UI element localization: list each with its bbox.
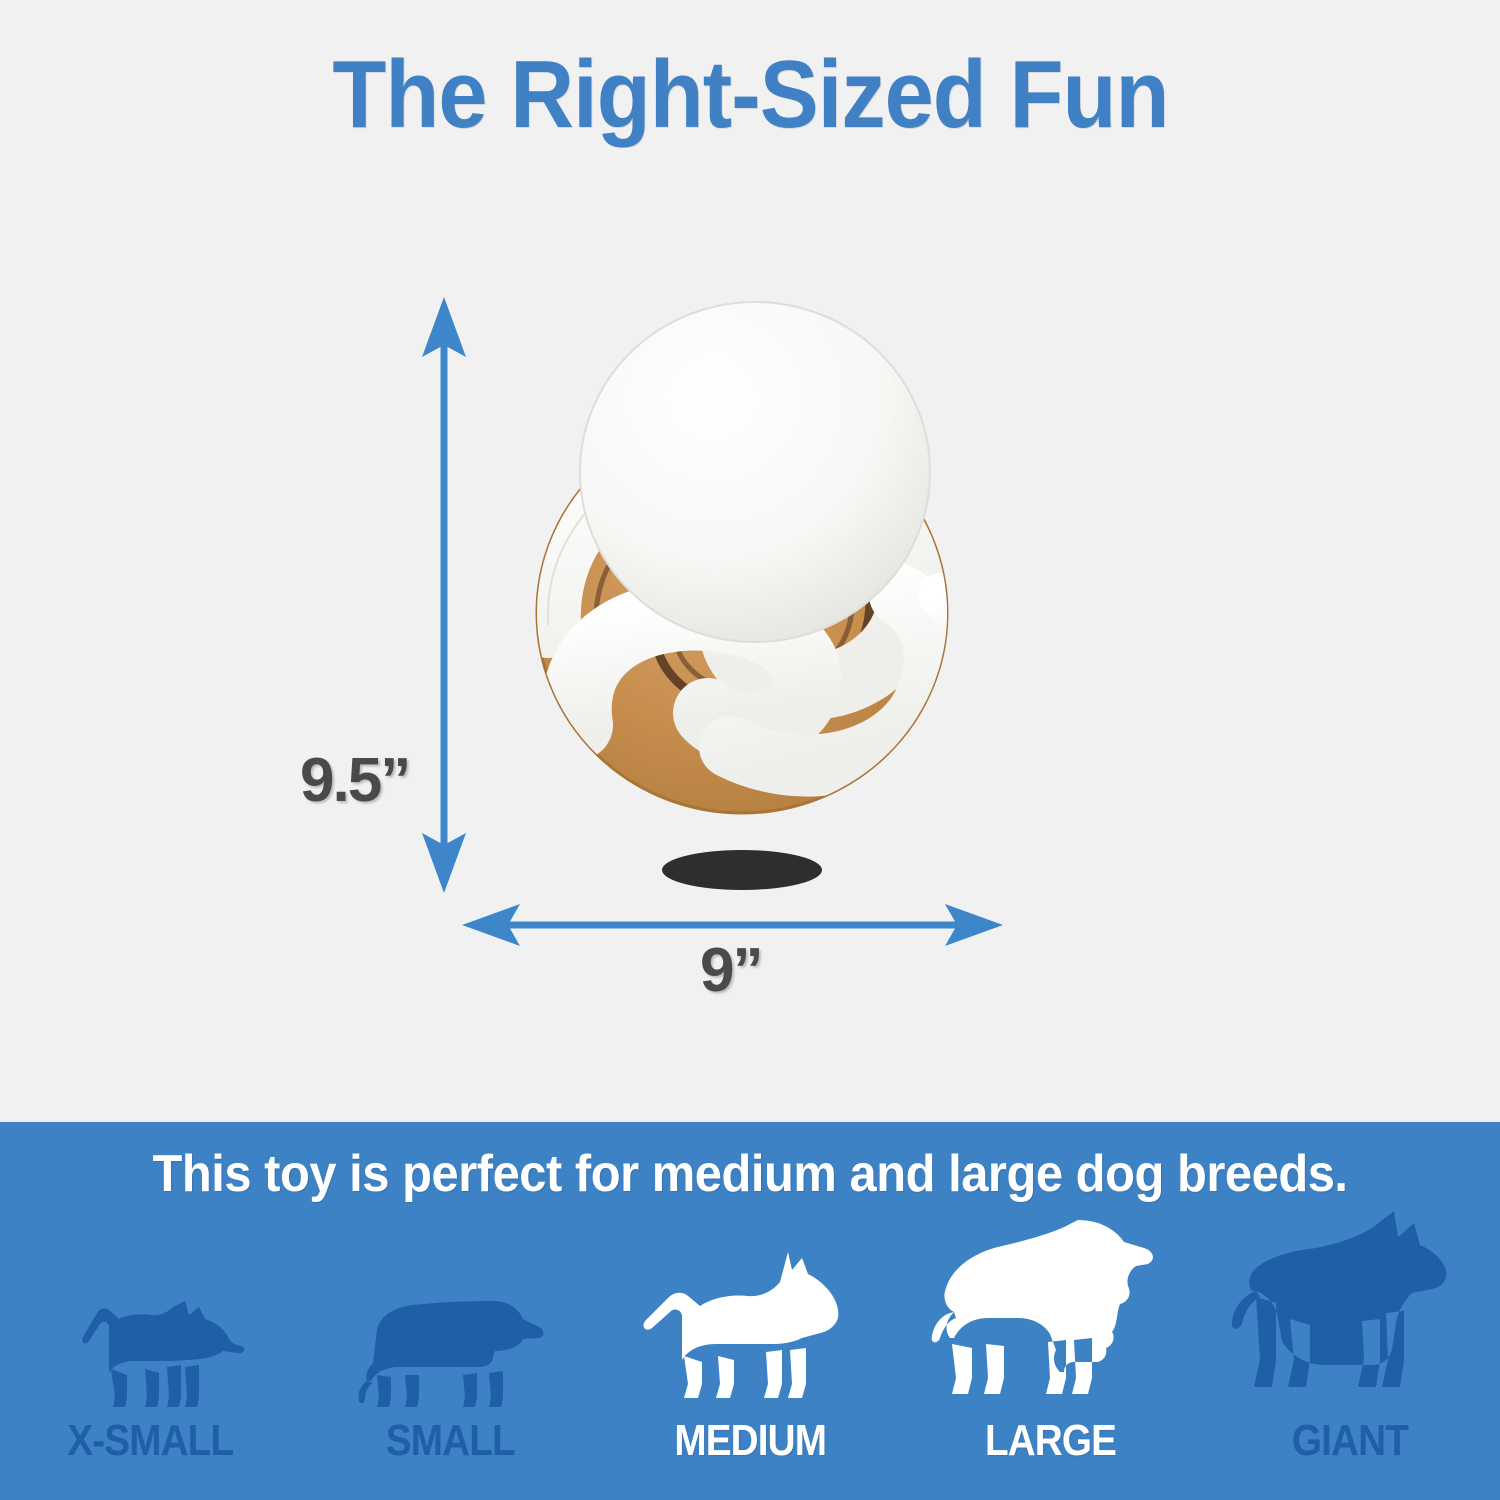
dachshund-silhouette-icon: [353, 1289, 548, 1414]
size-label-medium: MEDIUM: [674, 1416, 826, 1466]
bull-terrier-silhouette-icon: [638, 1244, 863, 1414]
product-stage: 9.5” 9”: [0, 190, 1500, 1122]
golden-retriever-silhouette-icon: [928, 1214, 1173, 1414]
size-option-giant[interactable]: GIANT: [1200, 1218, 1500, 1500]
size-option-large[interactable]: LARGE: [900, 1218, 1200, 1500]
bull-terrier-figure: [600, 1244, 900, 1414]
dachshund-figure: [300, 1289, 600, 1414]
width-dimension-label: 9”: [700, 935, 761, 1006]
toy-base-shadow: [662, 850, 822, 890]
great-dane-figure: [1200, 1209, 1500, 1414]
great-dane-silhouette-icon: [1228, 1209, 1473, 1414]
size-label-large: LARGE: [984, 1416, 1115, 1466]
size-option-medium[interactable]: MEDIUM: [600, 1218, 900, 1500]
size-option-small[interactable]: SMALL: [300, 1218, 600, 1500]
page-title: The Right-Sized Fun: [332, 40, 1168, 150]
size-label-x-small: X-SMALL: [67, 1416, 233, 1466]
chihuahua-figure: [0, 1289, 300, 1414]
size-label-small: SMALL: [386, 1416, 515, 1466]
height-dimension-label: 9.5”: [300, 745, 409, 816]
size-scale-row: X-SMALL SMALL MEDIUM: [0, 1218, 1500, 1500]
golden-retriever-figure: [900, 1214, 1200, 1414]
banner-headline: This toy is perfect for medium and large…: [45, 1144, 1455, 1204]
product-photo-cinnamon-roll-plush-toy: [470, 295, 1015, 905]
dog-size-banner: This toy is perfect for medium and large…: [0, 1122, 1500, 1500]
title-bar: The Right-Sized Fun: [0, 0, 1500, 190]
frosting-dome: [580, 302, 930, 642]
chihuahua-silhouette-icon: [53, 1289, 248, 1414]
height-dimension-arrow: [414, 295, 474, 895]
size-label-giant: GIANT: [1292, 1416, 1408, 1466]
size-option-x-small[interactable]: X-SMALL: [0, 1218, 300, 1500]
